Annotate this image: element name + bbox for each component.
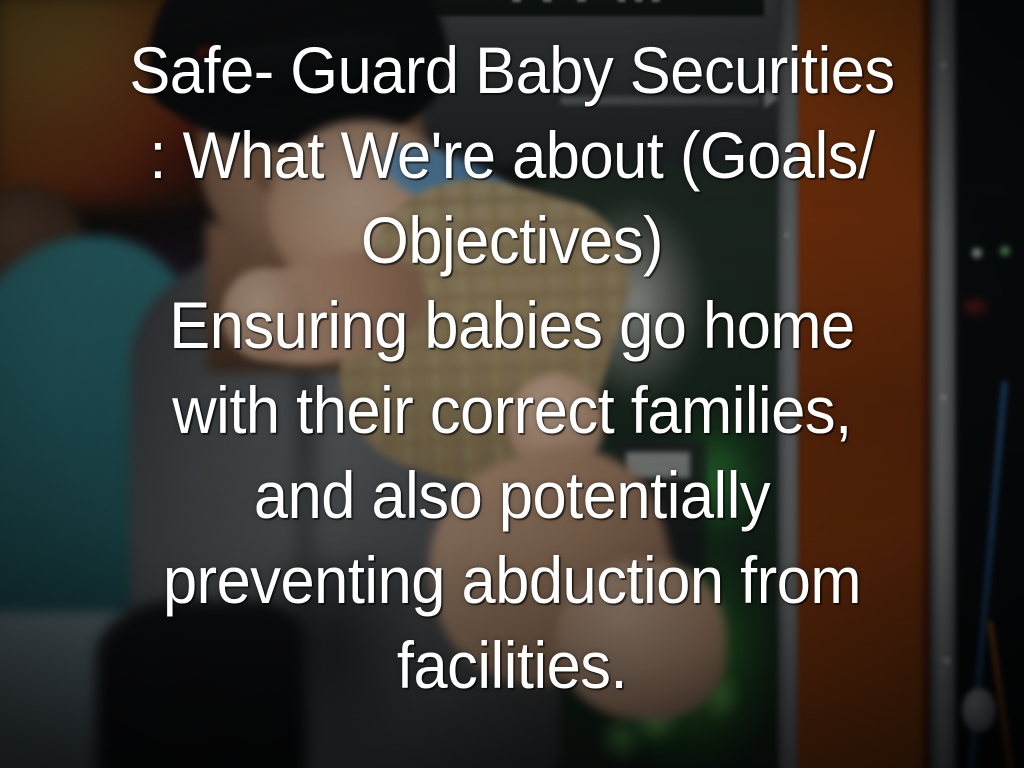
slide-body-text: Safe- Guard Baby Securities : What We're… xyxy=(36,28,988,708)
slide-text-layer: Safe- Guard Baby Securities : What We're… xyxy=(0,0,1024,768)
presentation-slide: ATM xyxy=(0,0,1024,768)
